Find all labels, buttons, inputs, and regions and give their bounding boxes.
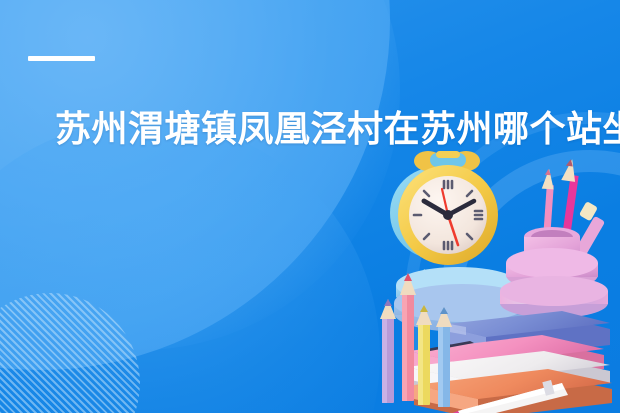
pencil-lavender xyxy=(380,299,396,403)
page-title: 苏州渭塘镇凤凰泾村在苏州哪个站坐 xyxy=(55,108,595,150)
accent-rule xyxy=(28,56,95,61)
pencil-skyblue xyxy=(436,307,452,407)
pencil-coral xyxy=(400,273,416,401)
pencil-yellow xyxy=(416,305,432,405)
pencil-cup xyxy=(500,158,608,318)
striped-circle-decoration xyxy=(0,293,140,413)
banner-card: 苏州渭塘镇凤凰泾村在苏州哪个站坐 xyxy=(0,0,620,413)
stationery-illustration xyxy=(366,145,620,413)
